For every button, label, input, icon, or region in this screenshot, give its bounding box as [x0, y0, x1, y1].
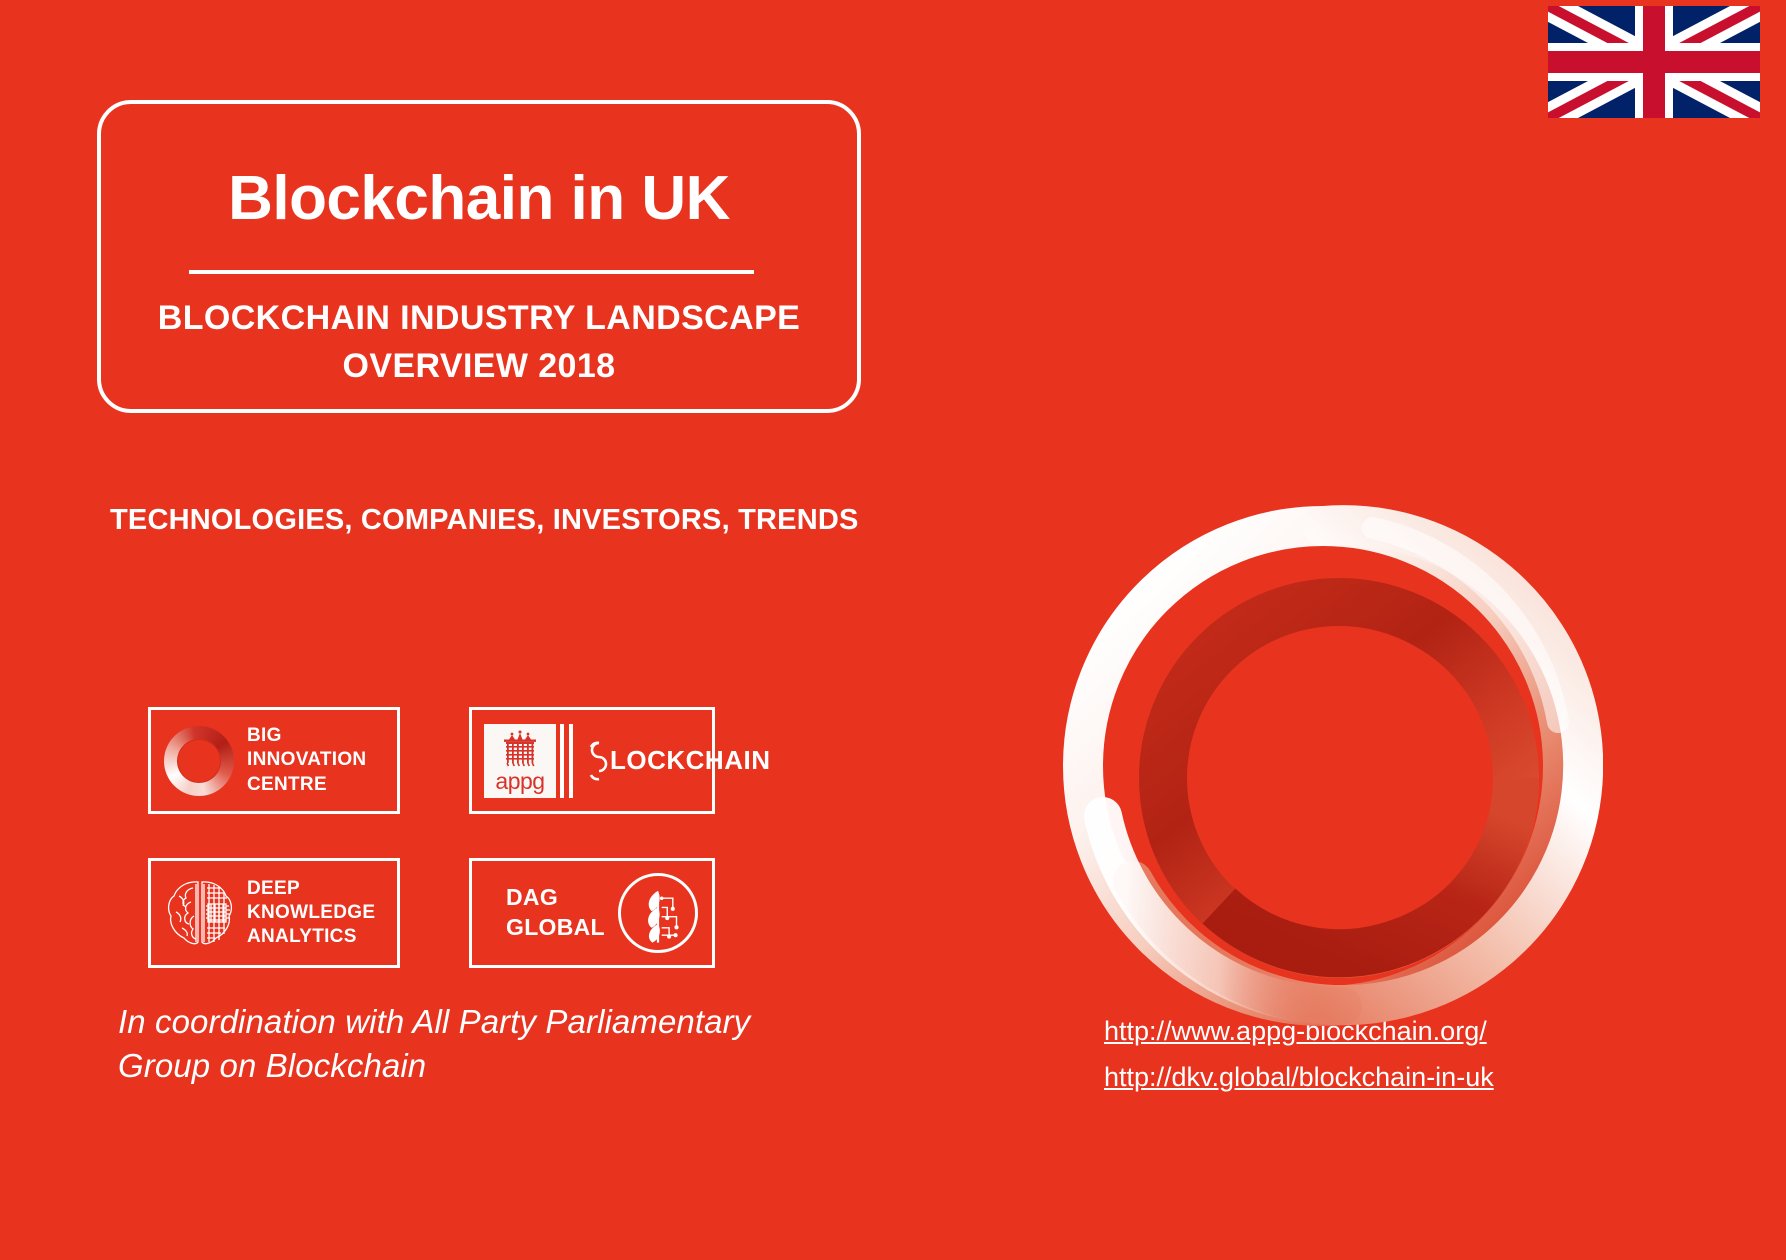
poster-cover: Blockchain in UK BLOCKCHAIN INDUSTRY LAN… — [0, 0, 1786, 1260]
appg-blockchain-label: LOCKCHAIN — [610, 745, 771, 776]
page-title: Blockchain in UK — [101, 168, 857, 230]
page-subtitle: BLOCKCHAIN INDUSTRY LANDSCAPE OVERVIEW 2… — [101, 294, 857, 391]
appg-plate: appg — [484, 724, 556, 798]
link-dkv-global[interactable]: http://dkv.global/blockchain-in-uk — [1104, 1054, 1494, 1100]
title-divider — [189, 270, 754, 274]
appg-divider-bars — [560, 724, 578, 798]
uk-flag-icon — [1548, 6, 1760, 118]
logo-big-innovation-centre: BIG INNOVATION CENTRE — [148, 707, 400, 814]
portcullis-icon — [497, 729, 543, 773]
logo-dag-global: DAG GLOBAL — [469, 858, 715, 968]
big-ring-logo-icon — [1043, 486, 1603, 1046]
brain-circuit-icon — [163, 876, 237, 950]
title-card: Blockchain in UK BLOCKCHAIN INDUSTRY LAN… — [97, 100, 861, 413]
wheat-circuit-circle-icon — [618, 873, 698, 953]
appg-wordmark: appg — [484, 770, 556, 793]
logo-deep-knowledge-analytics: DEEP KNOWLEDGE ANALYTICS — [148, 858, 400, 968]
ring-mark-icon — [164, 726, 234, 796]
coordination-note: In coordination with All Party Parliamen… — [118, 1000, 750, 1088]
logo-label-dag-global: DAG GLOBAL — [506, 883, 605, 943]
logo-label-big-innovation-centre: BIG INNOVATION CENTRE — [247, 724, 366, 796]
flag-red-cross-horizontal — [1548, 51, 1760, 73]
tagline: TECHNOLOGIES, COMPANIES, INVESTORS, TREN… — [110, 504, 859, 537]
logo-label-deep-knowledge-analytics: DEEP KNOWLEDGE ANALYTICS — [247, 877, 375, 949]
chain-link-icon — [582, 738, 608, 784]
logo-appg-blockchain: appg LOCKCHAIN — [469, 707, 715, 814]
